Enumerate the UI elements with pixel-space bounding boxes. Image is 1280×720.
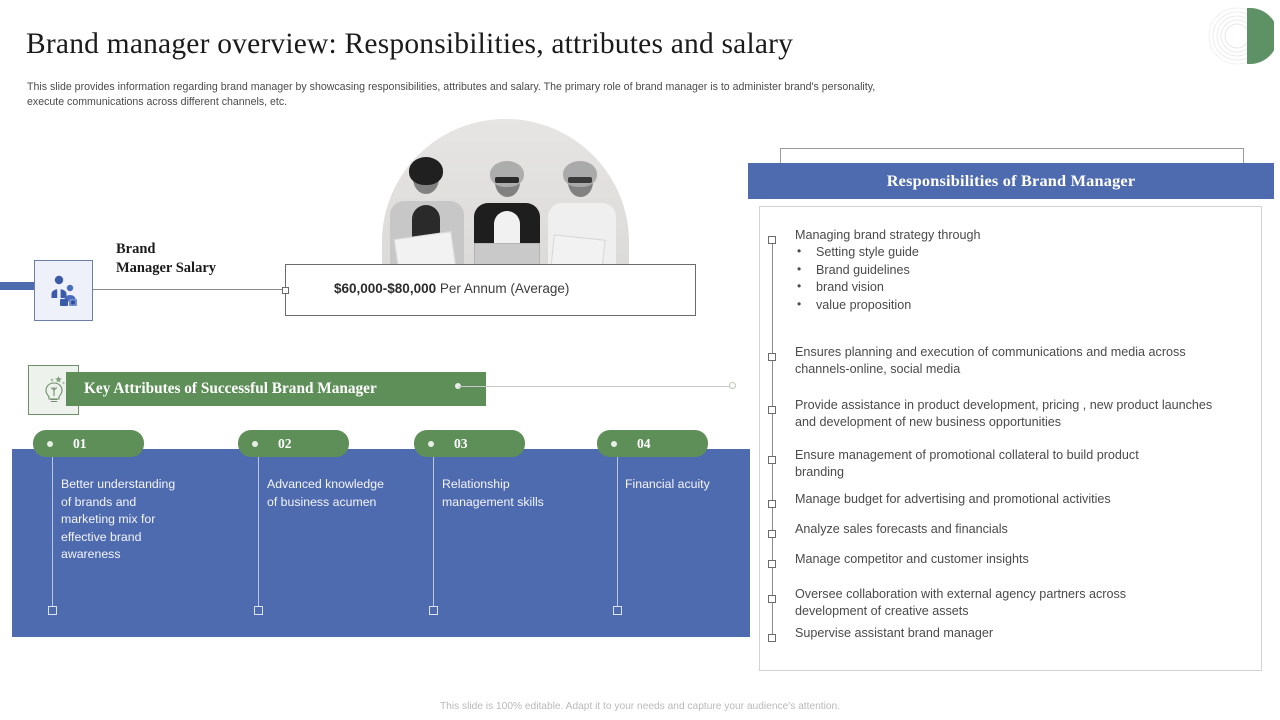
list-item-text: Provide assistance in product developmen… bbox=[795, 397, 1233, 432]
salary-value-text: $60,000-$80,000 Per Annum (Average) bbox=[334, 281, 569, 296]
people-badge-icon bbox=[46, 274, 82, 308]
salary-box-marker bbox=[282, 287, 289, 294]
page-title: Brand manager overview: Responsibilities… bbox=[26, 28, 1026, 61]
key-attributes-header: Key Attributes of Successful Brand Manag… bbox=[66, 372, 486, 406]
key-attributes-connector-endpoint bbox=[729, 382, 736, 389]
sublist-item: brand vision bbox=[795, 279, 1225, 296]
list-item-marker bbox=[768, 530, 776, 538]
page-subtitle: This slide provides information regardin… bbox=[27, 80, 897, 110]
salary-connector-line bbox=[93, 289, 285, 290]
responsibilities-header-label: Responsibilities of Brand Manager bbox=[887, 171, 1136, 191]
list-item-marker bbox=[768, 406, 776, 414]
attribute-endmarker-04 bbox=[613, 606, 622, 615]
list-item-text: Ensure management of promotional collate… bbox=[795, 447, 1165, 482]
sublist-item: Setting style guide bbox=[795, 244, 1225, 261]
list-item-text: Analyze sales forecasts and financials bbox=[795, 521, 1215, 538]
attribute-divider-01 bbox=[52, 457, 53, 610]
list-item-text: Managing brand strategy through bbox=[795, 227, 1225, 244]
list-item-text: Oversee collaboration with external agen… bbox=[795, 586, 1195, 621]
badge-dot-icon bbox=[47, 441, 53, 447]
list-item-marker bbox=[768, 634, 776, 642]
list-item-text: Ensures planning and execution of commun… bbox=[795, 344, 1215, 379]
sublist-item: Brand guidelines bbox=[795, 262, 1225, 279]
attribute-endmarker-01 bbox=[48, 606, 57, 615]
attribute-badge-03: 03 bbox=[414, 430, 525, 457]
attribute-text-01: Better understanding of brands and marke… bbox=[61, 476, 181, 564]
attribute-text-04: Financial acuity bbox=[625, 476, 735, 494]
attribute-number: 02 bbox=[278, 436, 292, 452]
list-item-sublist: Setting style guide Brand guidelines bra… bbox=[795, 244, 1225, 314]
team-photo bbox=[382, 119, 629, 266]
salary-label: Brand Manager Salary bbox=[116, 240, 276, 278]
badge-dot-icon bbox=[611, 441, 617, 447]
attribute-badge-01: 01 bbox=[33, 430, 144, 457]
brand-logo bbox=[1206, 3, 1274, 67]
badge-dot-icon bbox=[428, 441, 434, 447]
list-item-marker bbox=[768, 353, 776, 361]
list-item-text: Manage competitor and customer insights bbox=[795, 551, 1215, 568]
list-item-marker bbox=[768, 456, 776, 464]
key-attributes-connector-line bbox=[458, 386, 730, 387]
attribute-divider-02 bbox=[258, 457, 259, 610]
attribute-text-02: Advanced knowledge of business acumen bbox=[267, 476, 395, 511]
salary-value-suffix: Per Annum (Average) bbox=[436, 281, 569, 296]
list-item-marker bbox=[768, 236, 776, 244]
slide-footer-note: This slide is 100% editable. Adapt it to… bbox=[0, 701, 1280, 712]
salary-icon-tile bbox=[34, 260, 93, 321]
list-item-marker bbox=[768, 595, 776, 603]
badge-dot-icon bbox=[252, 441, 258, 447]
salary-label-line1: Brand bbox=[116, 240, 276, 259]
salary-label-line2: Manager Salary bbox=[116, 259, 276, 278]
logo-half-circle-icon bbox=[1206, 3, 1274, 67]
list-item-marker bbox=[768, 500, 776, 508]
responsibilities-header: Responsibilities of Brand Manager bbox=[748, 163, 1274, 199]
attribute-number: 04 bbox=[637, 436, 651, 452]
attribute-divider-03 bbox=[433, 457, 434, 610]
list-item-marker bbox=[768, 560, 776, 568]
responsibilities-spine-line bbox=[772, 240, 773, 634]
attribute-endmarker-02 bbox=[254, 606, 263, 615]
salary-value-box: $60,000-$80,000 Per Annum (Average) bbox=[285, 264, 696, 316]
attribute-text-03: Relationship management skills bbox=[442, 476, 577, 511]
sublist-item: value proposition bbox=[795, 297, 1225, 314]
attribute-endmarker-03 bbox=[429, 606, 438, 615]
salary-value-amount: $60,000-$80,000 bbox=[334, 281, 436, 296]
attribute-divider-04 bbox=[617, 457, 618, 610]
list-item-text: Supervise assistant brand manager bbox=[795, 625, 1195, 642]
lightbulb-idea-icon bbox=[39, 374, 69, 406]
attribute-number: 01 bbox=[73, 436, 87, 452]
attribute-badge-04: 04 bbox=[597, 430, 708, 457]
attribute-badge-02: 02 bbox=[238, 430, 349, 457]
list-item-text: Manage budget for advertising and promot… bbox=[795, 491, 1215, 508]
key-attributes-header-label: Key Attributes of Successful Brand Manag… bbox=[84, 380, 377, 398]
attribute-number: 03 bbox=[454, 436, 468, 452]
